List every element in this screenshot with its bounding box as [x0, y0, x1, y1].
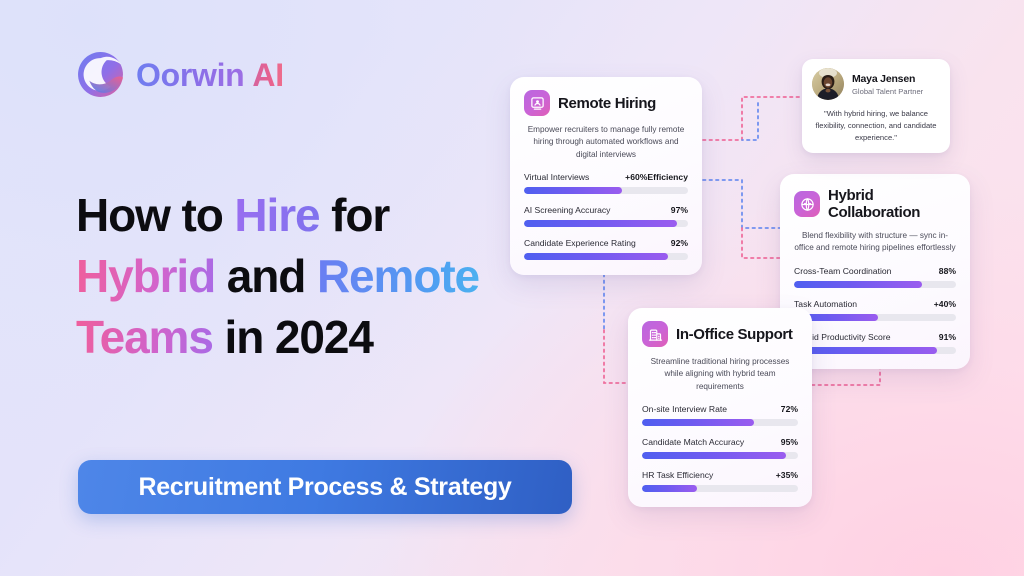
card-header: Remote Hiring [524, 90, 688, 116]
metric-label: Candidate Experience Rating [524, 238, 636, 248]
metric-label: Candidate Match Accuracy [642, 437, 744, 447]
progress-bar-fill [794, 281, 922, 288]
headline-text: and [215, 250, 317, 302]
brand-logo[interactable]: Oorwin AI [76, 50, 284, 99]
headline-highlight-hybrid: Hybrid [76, 250, 215, 302]
brand-wordmark: Oorwin AI [136, 59, 284, 91]
metric-label: Cross-Team Coordination [794, 266, 891, 276]
metric-item: Candidate Match Accuracy95% [642, 437, 798, 459]
card-header: Hybrid Collaboration [794, 187, 956, 221]
progress-bar [642, 419, 798, 426]
headline-line-3: Teams in 2024 [76, 307, 636, 368]
progress-bar [794, 347, 956, 354]
headline-text: in 2024 [213, 311, 373, 363]
globe-people-icon [794, 191, 820, 217]
card-header: In-Office Support [642, 321, 798, 347]
card-remote-hiring[interactable]: Remote Hiring Empower recruiters to mana… [510, 77, 702, 275]
connector-hybrid-inbound [742, 228, 780, 258]
testimonial-identity: Maya Jensen Global Talent Partner [852, 73, 923, 96]
progress-bar-fill [524, 253, 668, 260]
headline-highlight-teams: Teams [76, 311, 213, 363]
metric-item: Hybrid Productivity Score91% [794, 332, 956, 354]
metric-label: Virtual Interviews [524, 172, 589, 182]
metric-item: HR Task Efficiency+35% [642, 470, 798, 492]
progress-bar [524, 187, 688, 194]
metric-label: On-site Interview Rate [642, 404, 727, 414]
testimonial-name: Maya Jensen [852, 73, 923, 85]
progress-bar [524, 220, 688, 227]
poster-canvas: Oorwin AI How to Hire for Hybrid and Rem… [0, 0, 1024, 576]
metric-label: AI Screening Accuracy [524, 205, 610, 215]
metric-value: +40% [934, 299, 956, 309]
progress-bar-fill [524, 187, 622, 194]
testimonial-role: Global Talent Partner [852, 87, 923, 96]
brand-name-accent: AI [252, 59, 283, 91]
avatar [812, 68, 844, 100]
card-title: Hybrid Collaboration [828, 187, 956, 221]
progress-bar [794, 281, 956, 288]
progress-bar-fill [642, 452, 786, 459]
card-in-office-support[interactable]: In-Office Support Streamline traditional… [628, 308, 812, 507]
metric-item: Task Automation+40% [794, 299, 956, 321]
headline-highlight-hire: Hire [234, 189, 319, 241]
metric-item: Cross-Team Coordination88% [794, 266, 956, 288]
progress-bar-fill [642, 485, 697, 492]
metric-label: Task Automation [794, 299, 857, 309]
office-building-icon [642, 321, 668, 347]
headline-highlight-remote: Remote [317, 250, 479, 302]
progress-bar [642, 452, 798, 459]
headline-text: How to [76, 189, 234, 241]
remote-monitor-person-icon [524, 90, 550, 116]
recruitment-process-cta-button[interactable]: Recruitment Process & Strategy [78, 460, 572, 514]
oorwin-swirl-logo-icon [76, 50, 125, 99]
progress-bar-fill [794, 347, 937, 354]
progress-bar-fill [524, 220, 677, 227]
card-description: Streamline traditional hiring processes … [642, 356, 798, 393]
testimonial-card[interactable]: Maya Jensen Global Talent Partner "With … [802, 59, 950, 153]
testimonial-quote: "With hybrid hiring, we balance flexibil… [812, 108, 940, 143]
metric-value: 72% [781, 404, 798, 414]
card-description: Blend flexibility with structure — sync … [794, 230, 956, 255]
metric-item: Virtual Interviews+60%Efficiency [524, 172, 688, 194]
metric-item: On-site Interview Rate72% [642, 404, 798, 426]
connector-remote-to-hybrid [703, 180, 780, 228]
connector-testimonial-branch [742, 103, 758, 140]
metric-value: 88% [939, 266, 956, 276]
headline-text: for [319, 189, 389, 241]
testimonial-header: Maya Jensen Global Talent Partner [812, 68, 940, 100]
progress-bar [524, 253, 688, 260]
progress-bar [794, 314, 956, 321]
metric-value: 97% [671, 205, 688, 215]
card-description: Empower recruiters to manage fully remot… [524, 124, 688, 161]
progress-bar [642, 485, 798, 492]
card-title: In-Office Support [676, 326, 793, 343]
card-title: Remote Hiring [558, 95, 656, 112]
metric-item: AI Screening Accuracy97% [524, 205, 688, 227]
brand-name-primary: Oorwin [136, 59, 244, 91]
metric-label: HR Task Efficiency [642, 470, 713, 480]
metric-value: 91% [939, 332, 956, 342]
connector-remote-to-testimonial [703, 97, 802, 140]
progress-bar-fill [642, 419, 754, 426]
metric-value: 92% [671, 238, 688, 248]
metric-value: +35% [776, 470, 798, 480]
metric-value: +60%Efficiency [625, 172, 688, 182]
metric-value: 95% [781, 437, 798, 447]
metric-item: Candidate Experience Rating92% [524, 238, 688, 260]
